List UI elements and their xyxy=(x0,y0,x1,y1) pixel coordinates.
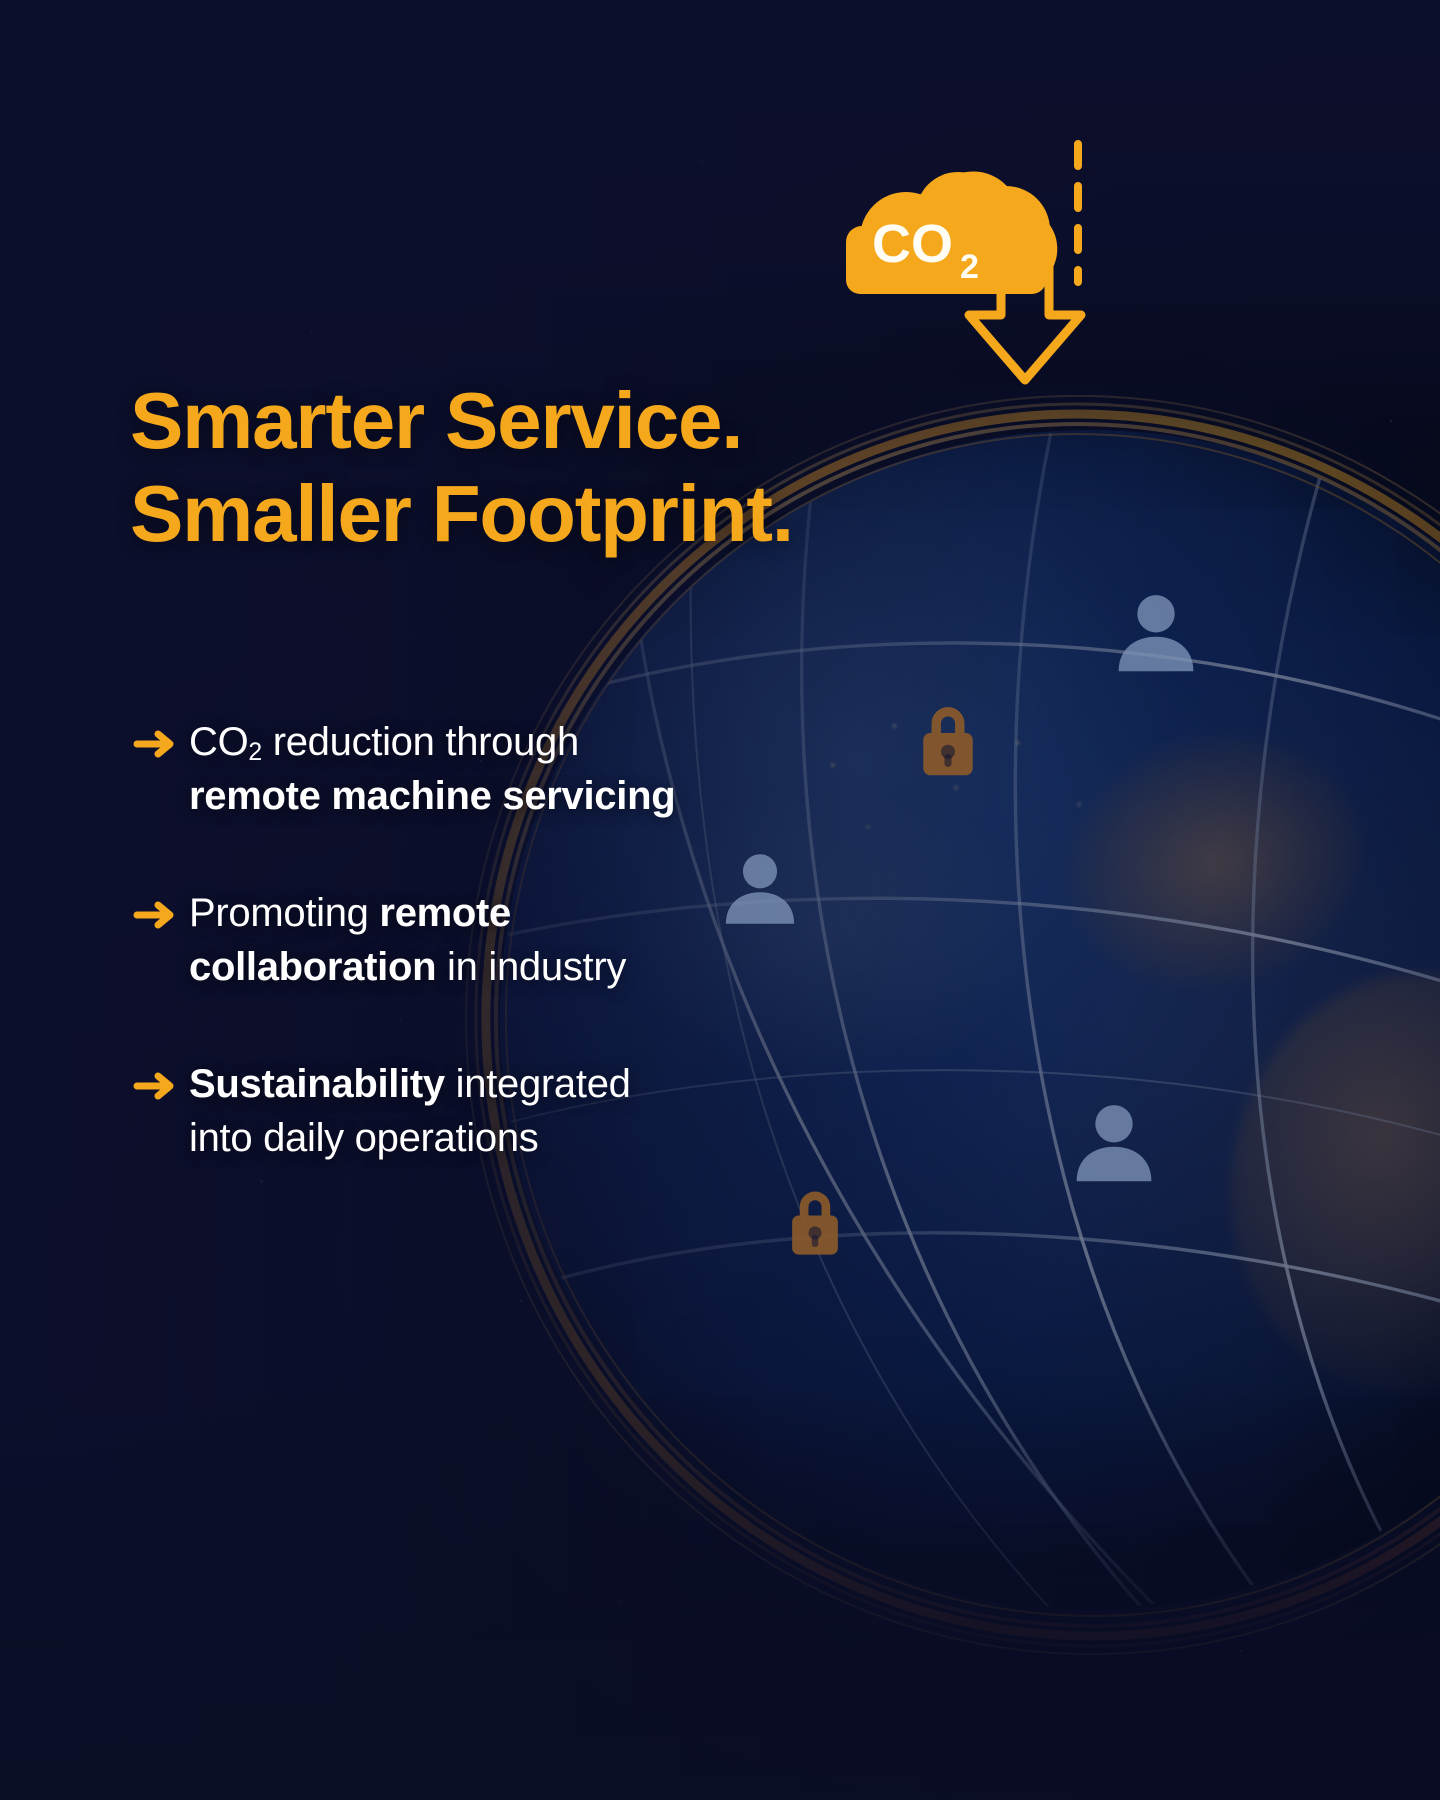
list-item: Promoting remote collaboration in indust… xyxy=(133,886,1013,995)
bullet3-normal-1: integrated xyxy=(445,1062,631,1106)
arrow-right-icon xyxy=(133,886,189,935)
bullet3-normal-2: into daily operations xyxy=(189,1116,538,1160)
bullet2-normal-2: in industry xyxy=(436,945,626,989)
bullet-text-1: CO2 reduction through remote machine ser… xyxy=(189,715,675,824)
arrow-right-icon xyxy=(133,1057,189,1106)
content-layer: Smarter Service. Smaller Footprint. CO2 … xyxy=(0,0,1440,1800)
benefits-list: CO2 reduction through remote machine ser… xyxy=(133,715,1013,1165)
bullet3-bold: Sustainability xyxy=(189,1062,445,1106)
bullet1-co2: CO xyxy=(189,720,248,764)
arrow-right-icon xyxy=(133,715,189,764)
page-title: Smarter Service. Smaller Footprint. xyxy=(130,375,793,561)
bullet-text-3: Sustainability integrated into daily ope… xyxy=(189,1057,631,1166)
bullet-text-2: Promoting remote collaboration in indust… xyxy=(189,886,626,995)
bullet1-rest: reduction through xyxy=(262,720,579,764)
bullet2-bold-1: remote xyxy=(379,891,511,935)
bullet1-bold: remote machine servicing xyxy=(189,774,675,818)
list-item: Sustainability integrated into daily ope… xyxy=(133,1057,1013,1166)
bullet1-sub: 2 xyxy=(248,739,262,766)
bullet2-bold-2: collaboration xyxy=(189,945,436,989)
bullet2-normal-1: Promoting xyxy=(189,891,379,935)
list-item: CO2 reduction through remote machine ser… xyxy=(133,715,1013,824)
